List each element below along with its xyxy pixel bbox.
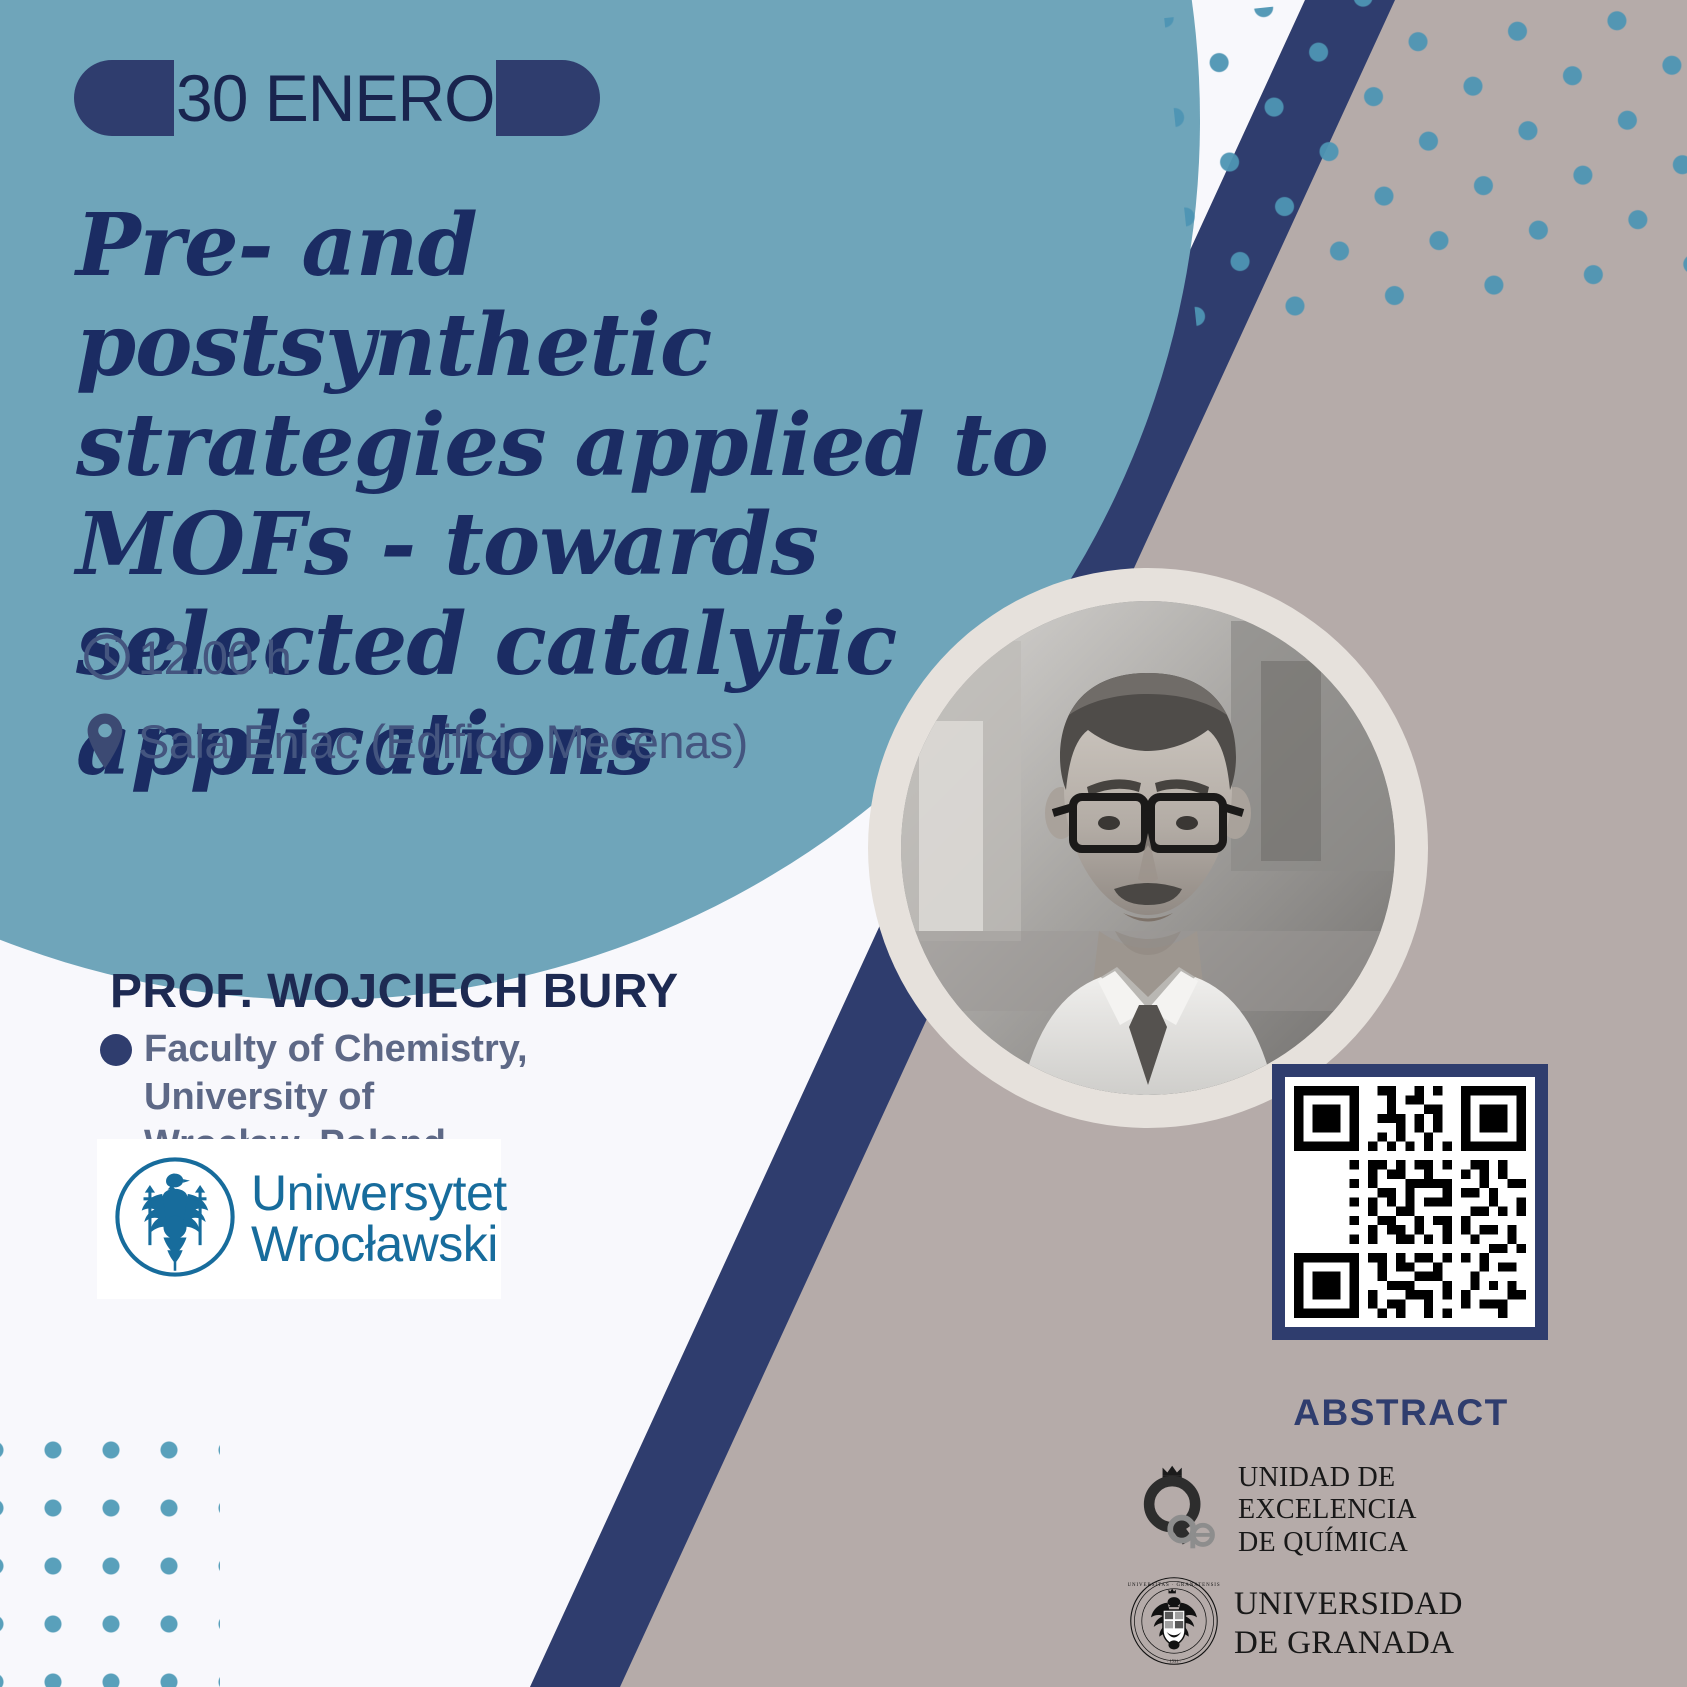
date-badge-left-cap bbox=[74, 60, 174, 136]
time-row: 12.00 h bbox=[80, 630, 980, 684]
portrait-ring bbox=[868, 568, 1428, 1128]
ugr-seal-logo-icon: UNIVERSITAS · GRANATENSIS bbox=[1128, 1575, 1220, 1672]
svg-text:· 1531 ·: · 1531 · bbox=[1167, 1658, 1182, 1663]
date-badge-right-cap bbox=[496, 60, 600, 136]
event-meta: 12.00 h Sala Eniac (Edificio Mecenas) bbox=[80, 630, 980, 798]
dot-pattern-top-right bbox=[1164, 0, 1687, 346]
unidad-excelencia-wordmark: UNIDAD DE EXCELENCIADE QUÍMICA bbox=[1238, 1462, 1558, 1559]
uwr-word-line-2: Wrocławski bbox=[251, 1216, 498, 1272]
ugr-line-1: UNIVERSIDAD bbox=[1234, 1586, 1463, 1622]
uex-line-2: DE QUÍMICA bbox=[1238, 1527, 1408, 1558]
abstract-label: ABSTRACT bbox=[1272, 1392, 1530, 1434]
ugr-wordmark: UNIVERSIDADDE GRANADA bbox=[1234, 1585, 1463, 1662]
uex-line-1: UNIDAD DE EXCELENCIA bbox=[1238, 1462, 1417, 1525]
crowned-q-logo-icon bbox=[1128, 1460, 1224, 1561]
footer-logos: UNIDAD DE EXCELENCIADE QUÍMICA UNIVERSIT… bbox=[1128, 1460, 1558, 1686]
unidad-excelencia-logo: UNIDAD DE EXCELENCIADE QUÍMICA bbox=[1128, 1460, 1558, 1561]
svg-text:UNIVERSITAS · GRANATENSIS: UNIVERSITAS · GRANATENSIS bbox=[1128, 1583, 1220, 1588]
date-badge-label: 30 ENERO bbox=[174, 60, 496, 136]
uwr-eagle-crest-icon bbox=[111, 1153, 239, 1286]
bullet-dot-icon bbox=[100, 1034, 132, 1066]
location-label: Sala Eniac (Edificio Mecenas) bbox=[138, 718, 748, 765]
qr-code-icon bbox=[1294, 1086, 1526, 1318]
speaker-name: PROF. WOJCIECH BURY bbox=[110, 964, 679, 1019]
dot-pattern-bottom-left bbox=[0, 1415, 220, 1687]
uwr-logo-wordmark: UniwersytetWrocławski bbox=[251, 1168, 507, 1271]
clock-icon bbox=[80, 630, 138, 684]
date-badge: 30 ENERO bbox=[74, 60, 600, 136]
event-poster: 30 ENERO Pre- and postsynthetic strategi… bbox=[0, 0, 1687, 1687]
affiliation-line-1: Faculty of Chemistry, University of bbox=[144, 1028, 528, 1118]
location-row: Sala Eniac (Edificio Mecenas) bbox=[80, 712, 980, 770]
ugr-line-2: DE GRANADA bbox=[1234, 1625, 1454, 1661]
uwr-word-line-1: Uniwersytet bbox=[251, 1165, 507, 1221]
time-label: 12.00 h bbox=[138, 634, 291, 681]
ugr-logo: UNIVERSITAS · GRANATENSIS bbox=[1128, 1575, 1558, 1672]
qr-code[interactable] bbox=[1272, 1064, 1548, 1340]
map-pin-icon bbox=[80, 712, 138, 770]
speaker-portrait bbox=[901, 601, 1395, 1095]
uwr-logo: UniwersytetWrocławski bbox=[97, 1139, 501, 1299]
